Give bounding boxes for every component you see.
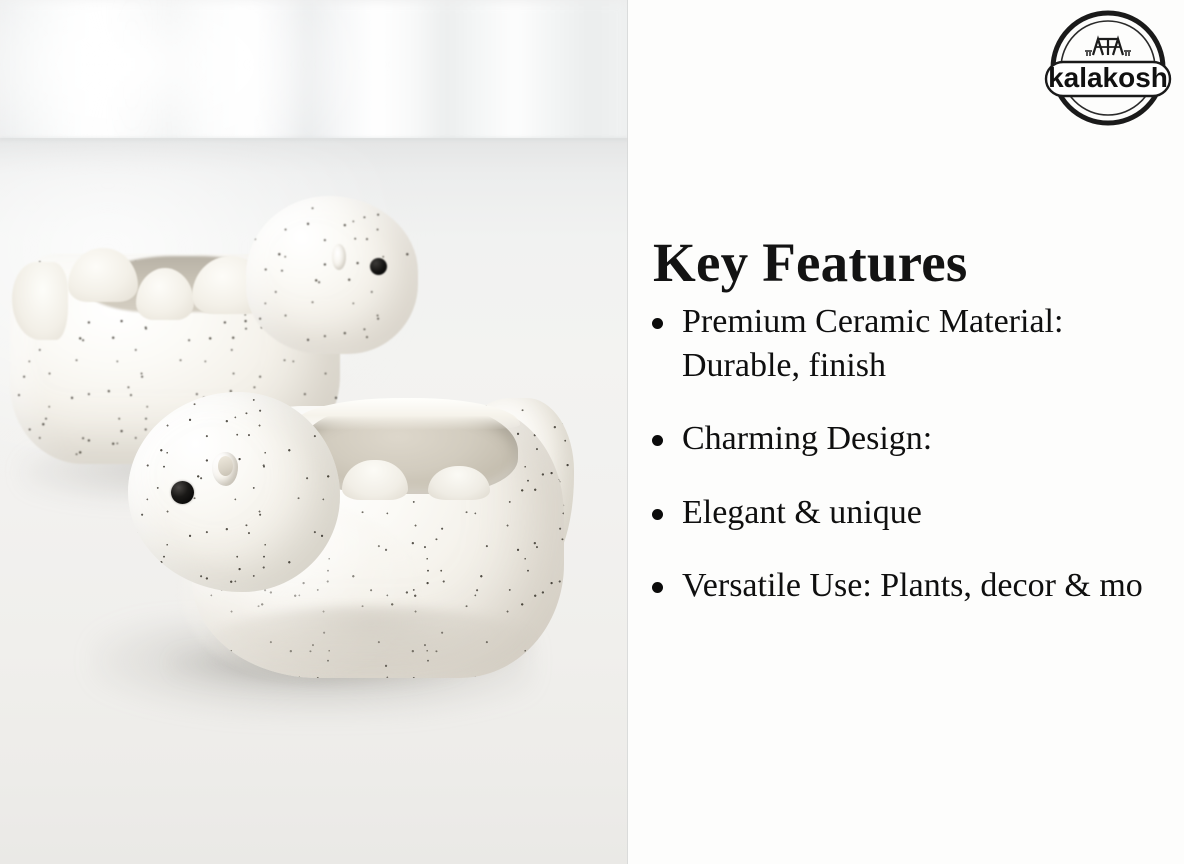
- back-planter-head-speckles: [246, 196, 418, 354]
- front-planter-eye: [171, 481, 194, 504]
- ceramic-bird-planter-front: [128, 384, 588, 684]
- feature-item: Premium Ceramic Material: Durable, finis…: [628, 300, 1182, 387]
- bullet-icon: [652, 582, 663, 593]
- feature-item: Versatile Use: Plants, decor & mo: [628, 564, 1184, 608]
- back-planter-beak-nub: [332, 244, 346, 270]
- feature-item: Charming Design:: [628, 417, 1184, 461]
- wall-surface-seam: [0, 138, 628, 141]
- bullet-icon: [652, 318, 663, 329]
- loom-structure-icon: [1085, 39, 1131, 56]
- features-panel: Key Features Premium Ceramic Material: D…: [628, 0, 1184, 864]
- bullet-icon: [652, 509, 663, 520]
- front-planter-rim-lip: [294, 398, 520, 430]
- back-planter-tail: [12, 262, 68, 340]
- feature-item-label: Versatile Use: Plants, decor & mo: [682, 567, 1143, 604]
- logo-brand-name: kalakosh: [1048, 62, 1168, 93]
- page-title: Key Features: [653, 234, 968, 292]
- front-planter-beak-hole: [218, 456, 233, 476]
- feature-item-label: Elegant & unique: [682, 494, 922, 531]
- back-planter-eye: [370, 258, 387, 275]
- product-photo: [0, 0, 628, 864]
- bullet-icon: [652, 435, 663, 446]
- feature-item-label: Charming Design:: [682, 420, 932, 457]
- front-planter-head-speckles: [128, 392, 340, 592]
- features-list: Premium Ceramic Material: Durable, finis…: [628, 300, 1184, 638]
- back-planter-head: [246, 196, 418, 354]
- front-planter-head: [128, 392, 340, 592]
- feature-item: Elegant & unique: [628, 491, 1184, 535]
- brand-logo: kalakosh: [1040, 8, 1176, 128]
- feature-item-label: Premium Ceramic Material: Durable, finis…: [682, 303, 1063, 384]
- front-planter-underside-shade: [206, 606, 536, 684]
- product-feature-slide: Key Features Premium Ceramic Material: D…: [0, 0, 1184, 864]
- kalakosh-logo-mark: kalakosh: [1040, 8, 1176, 128]
